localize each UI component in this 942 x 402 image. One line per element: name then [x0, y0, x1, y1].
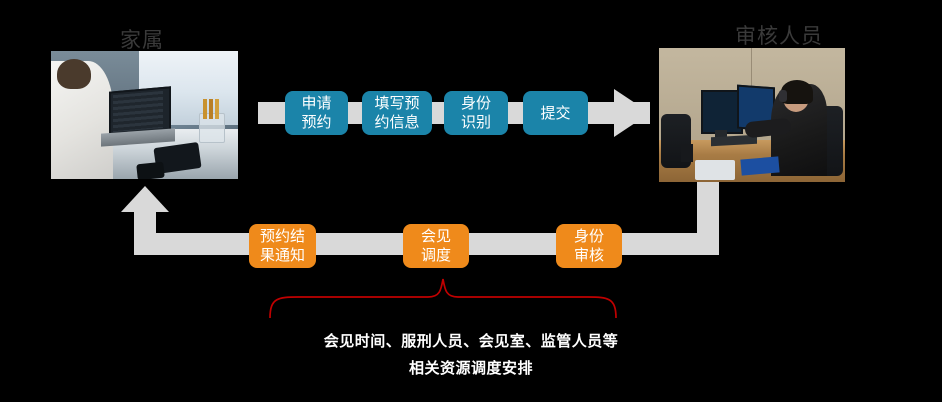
photo-reviewer-office: [659, 48, 845, 182]
forward-flow-arrowhead-icon: [614, 89, 650, 137]
annotation-caption-line2: 相关资源调度安排: [0, 357, 942, 378]
role-label-reviewer: 审核人员: [735, 20, 823, 50]
forward-step-identity-recognition[interactable]: 身份 识别: [444, 91, 508, 135]
forward-step-apply[interactable]: 申请 预约: [285, 91, 348, 135]
photo-person-hair: [57, 59, 91, 89]
photo-folder: [740, 156, 779, 175]
photo-family-applicant: [51, 51, 238, 179]
photo-laptop-screen-content: [113, 91, 163, 132]
return-step-meeting-scheduling[interactable]: 会见 调度: [403, 224, 469, 268]
return-step-result-notification[interactable]: 预约结 果通知: [249, 224, 316, 268]
forward-step-submit[interactable]: 提交: [523, 91, 588, 135]
photo-pencils: [203, 99, 219, 119]
role-label-family: 家属: [120, 24, 164, 54]
photo-headset: [779, 90, 787, 102]
forward-step-fill-info[interactable]: 填写预 约信息: [362, 91, 432, 135]
photo-desk-telephone: [695, 160, 735, 180]
return-step-identity-review[interactable]: 身份 审核: [556, 224, 622, 268]
annotation-caption-line1: 会见时间、服刑人员、会见室、监管人员等: [0, 330, 942, 351]
return-flow-arrowhead-icon: [121, 186, 169, 212]
photo-pen-holder: [681, 144, 693, 162]
diagram-canvas: 家属 审核人员 申请 预约 填写预: [0, 0, 942, 402]
red-curly-brace-icon: [268, 276, 618, 320]
photo-phone: [136, 162, 165, 179]
